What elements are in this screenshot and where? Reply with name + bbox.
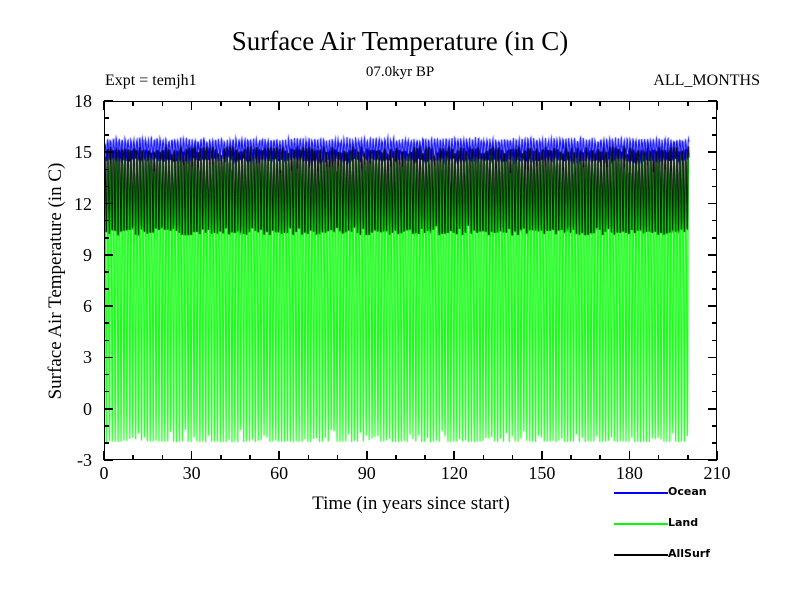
- x-tick-label: 180: [589, 464, 669, 482]
- y-tick-minor-right: [712, 391, 717, 393]
- legend-color-swatch: [614, 523, 668, 525]
- x-tick-minor-top: [424, 101, 426, 106]
- x-tick-minor: [132, 455, 134, 460]
- y-tick-major: [104, 357, 113, 359]
- y-tick-minor: [104, 117, 109, 119]
- x-tick-minor: [395, 455, 397, 460]
- x-tick-major-top: [541, 101, 543, 110]
- y-tick-label: 3: [6, 348, 92, 366]
- x-tick-minor-top: [162, 101, 164, 106]
- y-tick-major: [104, 100, 113, 102]
- x-tick-label: 120: [414, 464, 494, 482]
- x-tick-minor-top: [658, 101, 660, 106]
- x-tick-minor: [658, 455, 660, 460]
- y-tick-minor-right: [712, 117, 717, 119]
- x-tick-minor-top: [512, 101, 514, 106]
- x-tick-minor: [162, 455, 164, 460]
- x-tick-major: [629, 451, 631, 460]
- x-tick-minor-top: [337, 101, 339, 106]
- x-tick-major: [103, 451, 105, 460]
- x-tick-minor-top: [483, 101, 485, 106]
- y-tick-major: [104, 408, 113, 410]
- y-tick-major: [104, 203, 113, 205]
- y-tick-minor-right: [712, 134, 717, 136]
- x-tick-minor: [220, 455, 222, 460]
- y-tick-minor-right: [712, 288, 717, 290]
- y-tick-major: [104, 459, 113, 461]
- figure-canvas: Surface Air Temperature (in C) Expt = te…: [0, 0, 800, 600]
- y-tick-minor: [104, 271, 109, 273]
- x-tick-minor: [424, 455, 426, 460]
- y-tick-major-right: [708, 254, 717, 256]
- y-tick-label: 18: [6, 92, 92, 110]
- y-tick-label: 6: [6, 297, 92, 315]
- x-tick-major: [191, 451, 193, 460]
- y-tick-minor: [104, 374, 109, 376]
- x-tick-minor-top: [132, 101, 134, 106]
- y-tick-minor: [104, 442, 109, 444]
- x-tick-major: [716, 451, 718, 460]
- legend-label: Ocean: [668, 484, 707, 500]
- x-tick-minor-top: [249, 101, 251, 106]
- y-tick-minor: [104, 220, 109, 222]
- x-tick-label: 150: [502, 464, 582, 482]
- x-tick-minor: [599, 455, 601, 460]
- x-tick-minor: [249, 455, 251, 460]
- x-tick-minor: [308, 455, 310, 460]
- x-tick-major-top: [278, 101, 280, 110]
- y-tick-label: 9: [6, 246, 92, 264]
- x-tick-minor-top: [687, 101, 689, 106]
- x-tick-major-top: [453, 101, 455, 110]
- y-tick-major-right: [708, 357, 717, 359]
- months-label: ALL_MONTHS: [653, 72, 760, 90]
- series-canvas: [105, 102, 717, 460]
- x-tick-major: [453, 451, 455, 460]
- y-tick-minor: [104, 186, 109, 188]
- legend: OceanLandAllSurf: [612, 484, 792, 564]
- y-tick-minor-right: [712, 169, 717, 171]
- x-tick-minor: [512, 455, 514, 460]
- x-tick-label: 30: [152, 464, 232, 482]
- y-tick-minor: [104, 288, 109, 290]
- y-tick-major-right: [708, 408, 717, 410]
- y-tick-minor-right: [712, 374, 717, 376]
- x-tick-major-top: [103, 101, 105, 110]
- y-tick-major: [104, 254, 113, 256]
- y-tick-minor: [104, 425, 109, 427]
- x-tick-major: [366, 451, 368, 460]
- y-tick-minor: [104, 134, 109, 136]
- legend-color-swatch: [614, 554, 668, 556]
- x-tick-minor-top: [570, 101, 572, 106]
- y-tick-minor-right: [712, 237, 717, 239]
- x-tick-major-top: [629, 101, 631, 110]
- y-tick-minor-right: [712, 271, 717, 273]
- y-tick-minor-right: [712, 442, 717, 444]
- y-tick-minor-right: [712, 322, 717, 324]
- legend-color-swatch: [614, 492, 668, 494]
- x-tick-minor: [483, 455, 485, 460]
- x-tick-minor: [570, 455, 572, 460]
- y-tick-label: 12: [6, 195, 92, 213]
- y-tick-minor-right: [712, 186, 717, 188]
- y-tick-minor-right: [712, 425, 717, 427]
- y-tick-minor: [104, 169, 109, 171]
- y-tick-label: 15: [6, 143, 92, 161]
- legend-label: Land: [668, 515, 698, 531]
- x-tick-major-top: [716, 101, 718, 110]
- y-tick-major: [104, 305, 113, 307]
- x-tick-minor-top: [599, 101, 601, 106]
- y-tick-minor-right: [712, 340, 717, 342]
- page-title: Surface Air Temperature (in C): [0, 25, 800, 57]
- x-tick-label: 0: [64, 464, 144, 482]
- x-tick-label: 60: [239, 464, 319, 482]
- y-tick-minor: [104, 237, 109, 239]
- y-tick-major-right: [708, 203, 717, 205]
- x-tick-minor-top: [395, 101, 397, 106]
- y-tick-minor: [104, 322, 109, 324]
- y-tick-label: 0: [6, 400, 92, 418]
- x-tick-minor-top: [308, 101, 310, 106]
- x-tick-minor: [687, 455, 689, 460]
- x-tick-major-top: [191, 101, 193, 110]
- x-tick-minor: [337, 455, 339, 460]
- x-tick-major: [541, 451, 543, 460]
- y-tick-major-right: [708, 151, 717, 153]
- y-tick-major-right: [708, 305, 717, 307]
- x-tick-minor-top: [220, 101, 222, 106]
- x-tick-major-top: [366, 101, 368, 110]
- legend-label: AllSurf: [668, 546, 710, 562]
- y-tick-minor: [104, 340, 109, 342]
- y-tick-minor: [104, 391, 109, 393]
- x-tick-label: 90: [327, 464, 407, 482]
- x-tick-major: [278, 451, 280, 460]
- y-tick-major: [104, 151, 113, 153]
- plot-area: [104, 101, 717, 460]
- y-tick-minor-right: [712, 220, 717, 222]
- x-tick-label: 210: [677, 464, 757, 482]
